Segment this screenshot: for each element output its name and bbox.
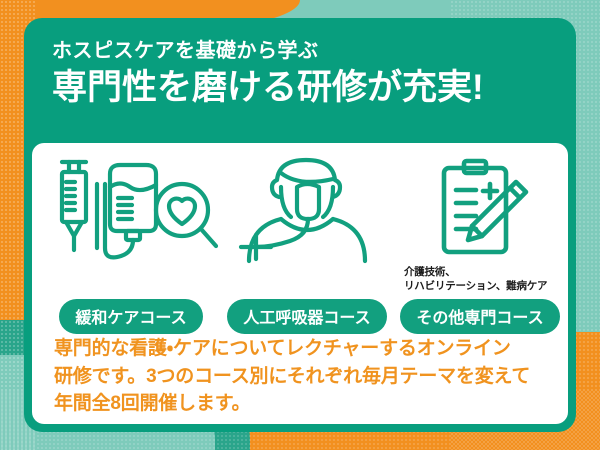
poster-root: ホスピスケアを基礎から学ぶ 専門性を磨ける研修が充実! bbox=[0, 0, 600, 450]
course-subtext-line-2: リハビリテーション、難病ケア bbox=[404, 279, 566, 293]
body-description: 専門的な看護・ケアについてレクチャーするオンライン 研修です。3つのコース別にそ… bbox=[54, 335, 554, 418]
syringe-icon bbox=[62, 162, 86, 250]
course-pill-other-specialty[interactable]: その他専門コース bbox=[400, 299, 559, 334]
course-item-other-specialty[interactable]: 介護技術、 リハビリテーション、難病ケア その他専門コース bbox=[394, 151, 566, 293]
course-artwork-ventilator bbox=[218, 151, 396, 269]
body-description-line-2: 研修です。3つのコース別にそれぞれ毎月テーマを変えて bbox=[54, 363, 554, 391]
course-list: 緩和ケアコース bbox=[32, 151, 568, 331]
course-artwork-other-specialty bbox=[394, 151, 566, 269]
course-pill-ventilator[interactable]: 人工呼吸器コース bbox=[227, 299, 386, 334]
course-artwork-palliative-care bbox=[38, 151, 224, 269]
course-item-palliative-care[interactable]: 緩和ケアコース bbox=[38, 151, 224, 269]
magnifier-heart-icon bbox=[156, 184, 216, 246]
course-pill-palliative-care[interactable]: 緩和ケアコース bbox=[59, 299, 202, 334]
body-description-line-3: 年間全8回開催します。 bbox=[54, 390, 554, 418]
main-card: ホスピスケアを基礎から学ぶ 専門性を磨ける研修が充実! bbox=[24, 18, 576, 432]
plus-icon bbox=[483, 184, 497, 198]
palliative-care-icon-group bbox=[42, 154, 220, 266]
page-title: 専門性を磨ける研修が充実! bbox=[52, 68, 552, 107]
iv-drip-bag-icon bbox=[97, 165, 156, 257]
course-item-ventilator[interactable]: 人工呼吸器コース bbox=[218, 151, 396, 269]
course-pill-wrap-ventilator: 人工呼吸器コース bbox=[218, 299, 396, 334]
kicker-text: ホスピスケアを基礎から学ぶ bbox=[52, 40, 552, 62]
patient-ventilator-mask-icon bbox=[223, 153, 391, 268]
course-pill-wrap-other-specialty: その他専門コース bbox=[394, 299, 566, 334]
body-description-line-1: 専門的な看護・ケアについてレクチャーするオンライン bbox=[54, 335, 554, 363]
header-block: ホスピスケアを基礎から学ぶ 専門性を磨ける研修が充実! bbox=[52, 40, 552, 107]
course-subtext-other-specialty: 介護技術、 リハビリテーション、難病ケア bbox=[394, 265, 566, 293]
clipboard-checklist-pencil-icon bbox=[428, 158, 532, 262]
course-pill-wrap-palliative-care: 緩和ケアコース bbox=[38, 299, 224, 334]
white-content-panel: 緩和ケアコース bbox=[32, 143, 568, 424]
